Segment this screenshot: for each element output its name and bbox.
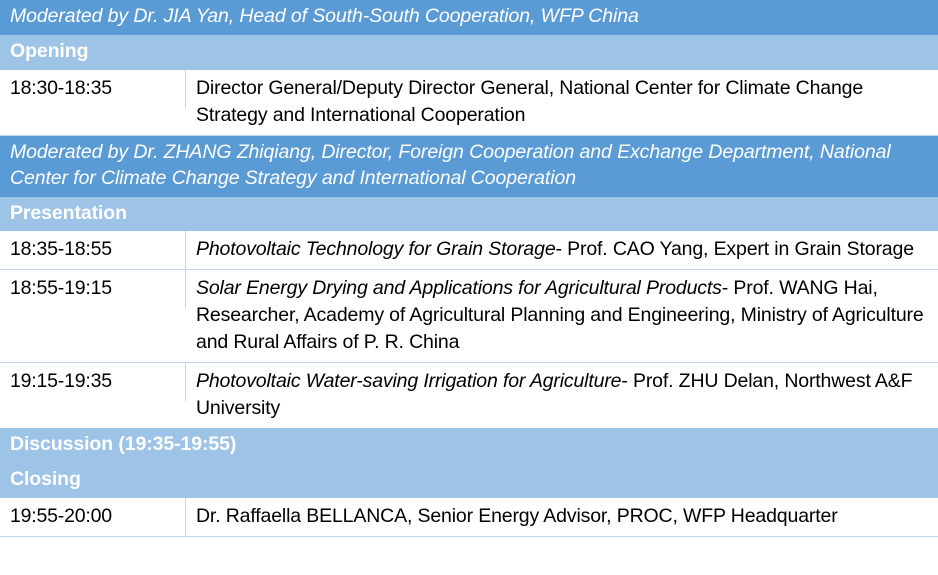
- agenda-row: 18:35-18:55 Photovoltaic Technology for …: [0, 231, 938, 270]
- moderator-banner: Moderated by Dr. ZHANG Zhiqiang, Directo…: [0, 136, 938, 197]
- agenda-row-time: 18:35-18:55: [0, 231, 186, 269]
- agenda-row-description: Photovoltaic Water-saving Irrigation for…: [186, 363, 938, 428]
- agenda-row-time: 18:30-18:35: [0, 70, 186, 108]
- agenda-row-time: 18:55-19:15: [0, 270, 186, 308]
- agenda-row: 18:30-18:35 Director General/Deputy Dire…: [0, 70, 938, 136]
- agenda-row: 18:55-19:15 Solar Energy Drying and Appl…: [0, 270, 938, 363]
- agenda-row-detail: - Prof. CAO Yang, Expert in Grain Storag…: [556, 238, 914, 260]
- agenda-row-description: Director General/Deputy Director General…: [186, 70, 938, 135]
- agenda-row-description: Dr. Raffaella BELLANCA, Senior Energy Ad…: [186, 498, 938, 536]
- agenda-row-title: Photovoltaic Technology for Grain Storag…: [196, 238, 556, 260]
- section-header-closing: Closing: [0, 463, 938, 498]
- agenda-row-time: 19:15-19:35: [0, 363, 186, 401]
- agenda-table: Moderated by Dr. JIA Yan, Head of South-…: [0, 0, 938, 537]
- agenda-row-description: Photovoltaic Technology for Grain Storag…: [186, 231, 938, 269]
- agenda-row-detail: Director General/Deputy Director General…: [196, 77, 863, 126]
- section-header-presentation: Presentation: [0, 197, 938, 232]
- section-header-discussion: Discussion (19:35-19:55): [0, 428, 938, 463]
- agenda-row: 19:15-19:35 Photovoltaic Water-saving Ir…: [0, 363, 938, 428]
- agenda-row-title: Photovoltaic Water-saving Irrigation for…: [196, 370, 621, 392]
- agenda-row-title: Solar Energy Drying and Applications for…: [196, 277, 722, 299]
- section-header-opening: Opening: [0, 35, 938, 70]
- agenda-row: 19:55-20:00 Dr. Raffaella BELLANCA, Seni…: [0, 498, 938, 537]
- agenda-row-description: Solar Energy Drying and Applications for…: [186, 270, 938, 362]
- moderator-banner: Moderated by Dr. JIA Yan, Head of South-…: [0, 0, 938, 35]
- agenda-row-detail: Dr. Raffaella BELLANCA, Senior Energy Ad…: [196, 505, 838, 527]
- agenda-row-time: 19:55-20:00: [0, 498, 186, 536]
